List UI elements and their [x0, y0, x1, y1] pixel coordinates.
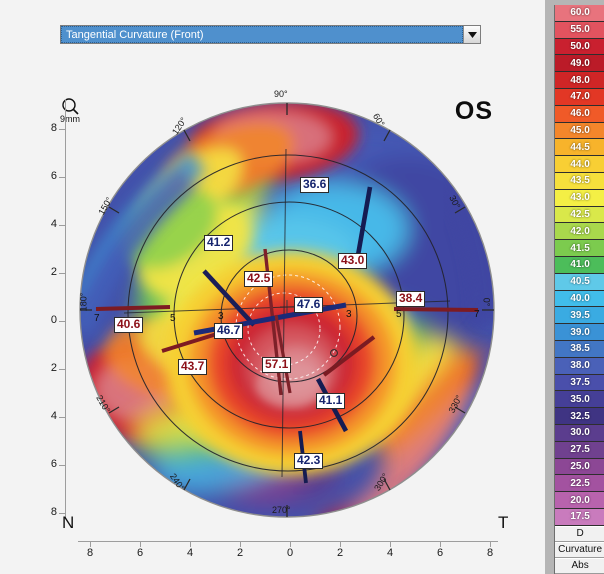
measurement-57-1[interactable]: 57.1: [262, 357, 291, 373]
scale-step-20-0[interactable]: 20.0: [555, 492, 604, 509]
zoom-scale-label: 9mm: [60, 114, 80, 124]
ring-label-7-temporal: 7: [474, 309, 480, 320]
map-header: Tangential Curvature (Front): [0, 0, 545, 90]
x-axis-label: 6: [432, 547, 448, 559]
y-tick: [59, 177, 65, 178]
scale-step-40-5[interactable]: 40.5: [555, 274, 604, 291]
measurement-36-6[interactable]: 36.6: [300, 177, 329, 193]
scale-step-44-0[interactable]: 44.0: [555, 156, 604, 173]
scale-step-42-0[interactable]: 42.0: [555, 223, 604, 240]
scale-type-label[interactable]: Curvature: [555, 542, 604, 558]
y-tick: [59, 225, 65, 226]
color-scale-pane: 60.055.050.049.048.047.046.045.044.544.0…: [545, 0, 604, 574]
y-axis-label: 0: [44, 314, 57, 326]
scale-unit-label: D: [555, 526, 604, 542]
scale-step-35-0[interactable]: 35.0: [555, 391, 604, 408]
measurement-43-0[interactable]: 43.0: [338, 253, 367, 269]
ring-label-5-temporal: 5: [396, 309, 402, 320]
y-axis-label: 8: [44, 122, 57, 134]
ring-label-3-nasal: 3: [218, 311, 224, 322]
degree-label-270: 270°: [272, 505, 291, 515]
x-axis-label: 0: [282, 547, 298, 559]
scale-step-42-5[interactable]: 42.5: [555, 207, 604, 224]
scale-step-39-5[interactable]: 39.5: [555, 307, 604, 324]
x-axis-label: 4: [182, 547, 198, 559]
scale-step-44-5[interactable]: 44.5: [555, 139, 604, 156]
scale-step-41-5[interactable]: 41.5: [555, 240, 604, 257]
y-tick: [59, 465, 65, 466]
color-scale-footer: D Curvature Abs: [554, 526, 604, 574]
scale-step-49-0[interactable]: 49.0: [555, 55, 604, 72]
scale-step-39-0[interactable]: 39.0: [555, 324, 604, 341]
x-axis-label: 2: [332, 547, 348, 559]
scale-step-30-0[interactable]: 30.0: [555, 425, 604, 442]
scale-step-46-0[interactable]: 46.0: [555, 106, 604, 123]
scale-step-22-5[interactable]: 22.5: [555, 475, 604, 492]
y-axis-label: 4: [44, 218, 57, 230]
color-scale-strip[interactable]: 60.055.050.049.048.047.046.045.044.544.0…: [554, 5, 604, 526]
scale-step-43-0[interactable]: 43.0: [555, 190, 604, 207]
x-axis-label: 8: [82, 547, 98, 559]
map-canvas-area: OS 9mm 8 6 4 2: [0, 89, 545, 574]
temporal-label: T: [498, 513, 508, 533]
degree-label-0: 0°: [481, 298, 491, 307]
scale-step-47-0[interactable]: 47.0: [555, 89, 604, 106]
y-tick: [59, 369, 65, 370]
scale-step-38-0[interactable]: 38.0: [555, 358, 604, 375]
scale-step-41-0[interactable]: 41.0: [555, 257, 604, 274]
y-tick: [59, 273, 65, 274]
x-axis-label: 8: [482, 547, 498, 559]
measurement-42-5[interactable]: 42.5: [244, 271, 273, 287]
map-type-select[interactable]: Tangential Curvature (Front): [60, 25, 481, 44]
measurement-41-1[interactable]: 41.1: [316, 393, 345, 409]
y-axis-label: 4: [44, 410, 57, 422]
measurement-38-4[interactable]: 38.4: [396, 291, 425, 307]
topography-window: Tangential Curvature (Front) OS 9mm: [0, 0, 604, 574]
measurement-41-2[interactable]: 41.2: [204, 235, 233, 251]
scale-step-43-5[interactable]: 43.5: [555, 173, 604, 190]
measurement-43-7[interactable]: 43.7: [178, 359, 207, 375]
scale-mode-label[interactable]: Abs: [555, 558, 604, 574]
degree-label-180: 180°: [78, 293, 88, 312]
y-tick: [59, 321, 65, 322]
nasal-label: N: [62, 513, 74, 533]
x-axis-label: 6: [132, 547, 148, 559]
x-axis-label: 4: [382, 547, 398, 559]
measurement-46-7[interactable]: 46.7: [214, 323, 243, 339]
scale-step-50-0[interactable]: 50.0: [555, 39, 604, 56]
x-axis: [78, 541, 498, 542]
y-axis: [65, 99, 66, 519]
scale-step-40-0[interactable]: 40.0: [555, 291, 604, 308]
y-axis-label: 8: [44, 506, 57, 518]
ring-label-7-nasal: 7: [94, 313, 100, 324]
degree-label-90: 90°: [274, 89, 288, 99]
chevron-down-icon[interactable]: [463, 26, 480, 43]
scale-step-38-5[interactable]: 38.5: [555, 341, 604, 358]
measurement-40-6[interactable]: 40.6: [114, 317, 143, 333]
ring-label-3-temporal: 3: [346, 309, 352, 320]
corneal-map-disc[interactable]: 90° 60° 30° 0° 330° 300° 270° 240° 210° …: [78, 101, 496, 519]
scale-step-37-5[interactable]: 37.5: [555, 375, 604, 392]
y-tick: [59, 417, 65, 418]
scale-step-48-0[interactable]: 48.0: [555, 72, 604, 89]
ring-label-5-nasal: 5: [170, 313, 176, 324]
scale-step-55-0[interactable]: 55.0: [555, 22, 604, 39]
scale-step-60-0[interactable]: 60.0: [555, 5, 604, 22]
x-axis-label: 2: [232, 547, 248, 559]
map-pane: Tangential Curvature (Front) OS 9mm: [0, 0, 545, 574]
measurement-47-6[interactable]: 47.6: [294, 297, 323, 313]
y-axis-label: 6: [44, 458, 57, 470]
scale-step-25-0[interactable]: 25.0: [555, 459, 604, 476]
measurement-42-3[interactable]: 42.3: [294, 453, 323, 469]
y-tick: [59, 129, 65, 130]
y-axis-label: 6: [44, 170, 57, 182]
y-axis-label: 2: [44, 266, 57, 278]
scale-step-17-5[interactable]: 17.5: [555, 509, 604, 526]
map-type-select-value[interactable]: Tangential Curvature (Front): [61, 26, 463, 43]
scale-step-45-0[interactable]: 45.0: [555, 123, 604, 140]
y-axis-label: 2: [44, 362, 57, 374]
scale-step-32-5[interactable]: 32.5: [555, 408, 604, 425]
scale-step-27-5[interactable]: 27.5: [555, 442, 604, 459]
